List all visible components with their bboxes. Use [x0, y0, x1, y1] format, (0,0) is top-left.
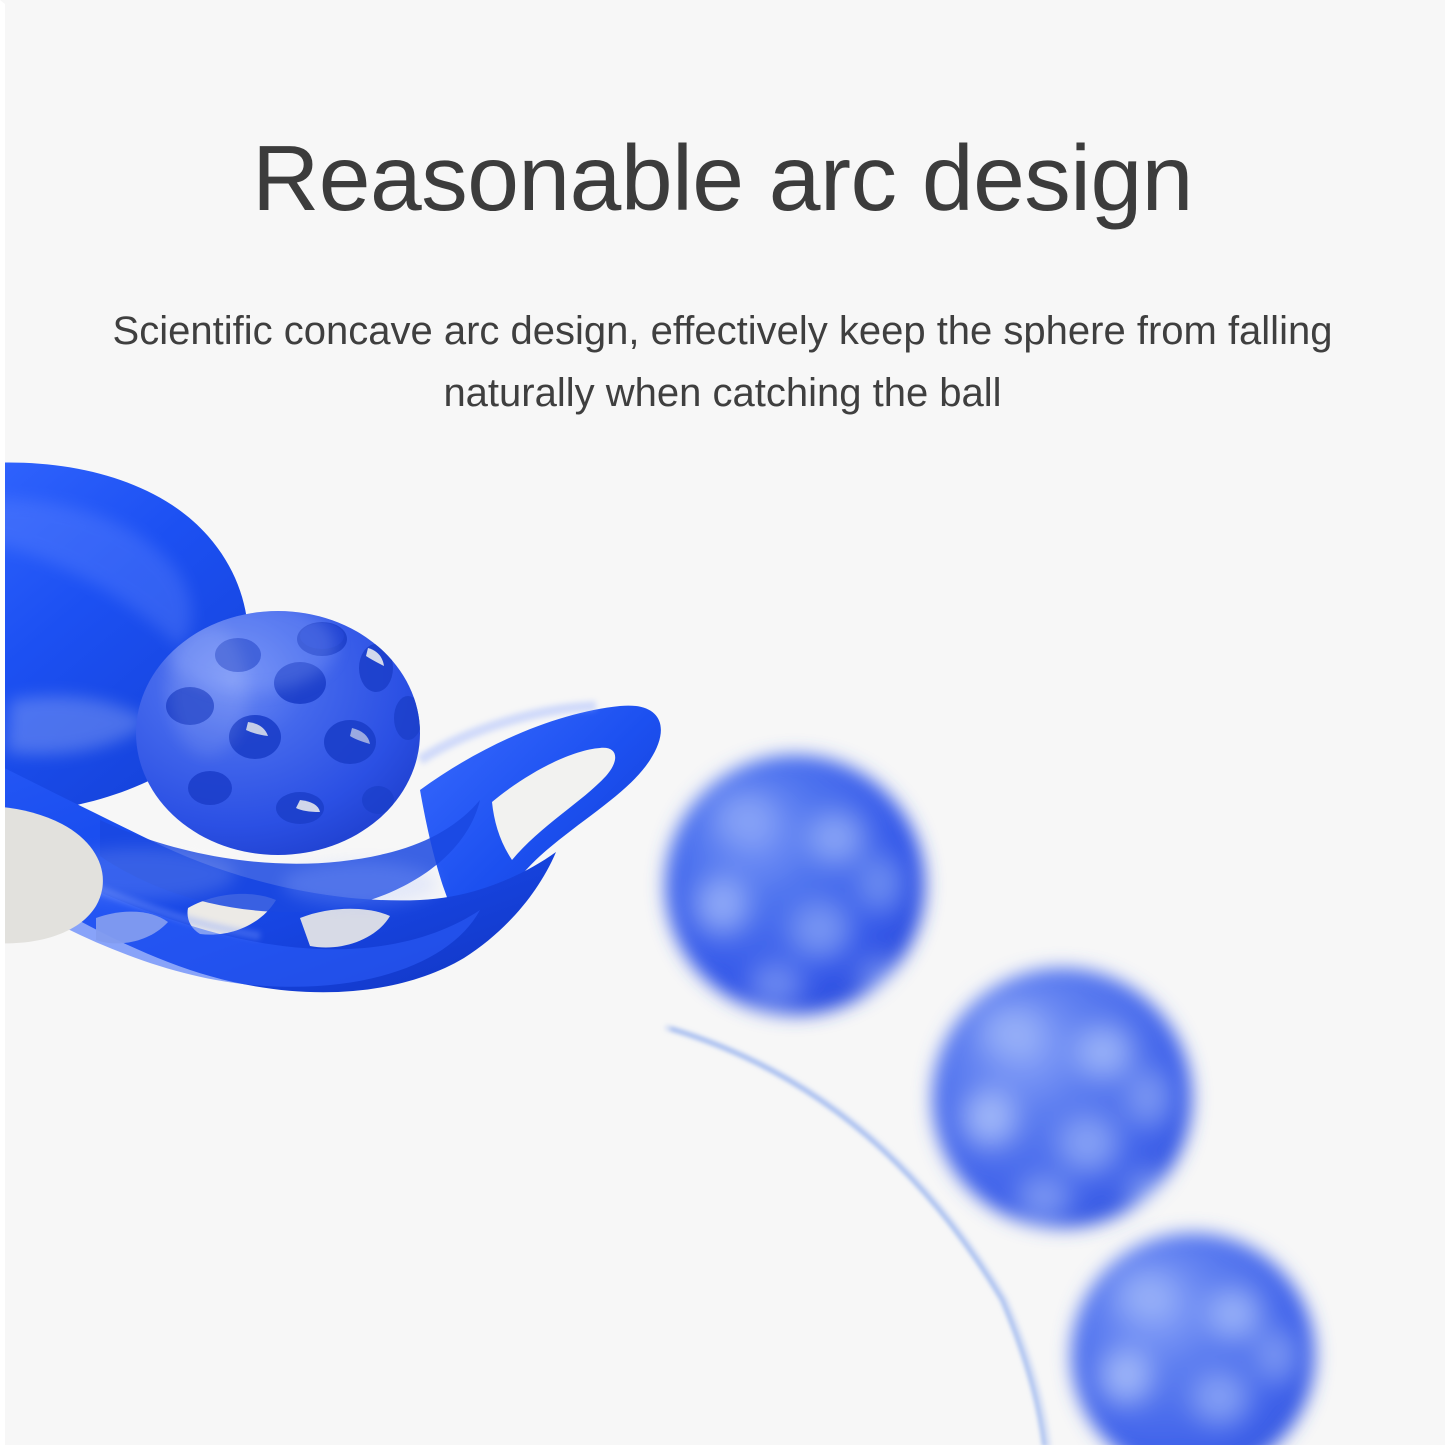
page-title: Reasonable arc design: [0, 0, 1445, 228]
falling-ball-1: [665, 755, 925, 1015]
product-feature-image: Reasonable arc design Scientific concave…: [0, 0, 1445, 1445]
falling-ball-2: [932, 968, 1192, 1228]
subtitle-line-2: naturally when catching the ball: [0, 362, 1445, 424]
subtitle-line-1: Scientific concave arc design, effective…: [0, 300, 1445, 362]
text-block: Reasonable arc design Scientific concave…: [0, 0, 1445, 424]
subtitle: Scientific concave arc design, effective…: [0, 228, 1445, 424]
